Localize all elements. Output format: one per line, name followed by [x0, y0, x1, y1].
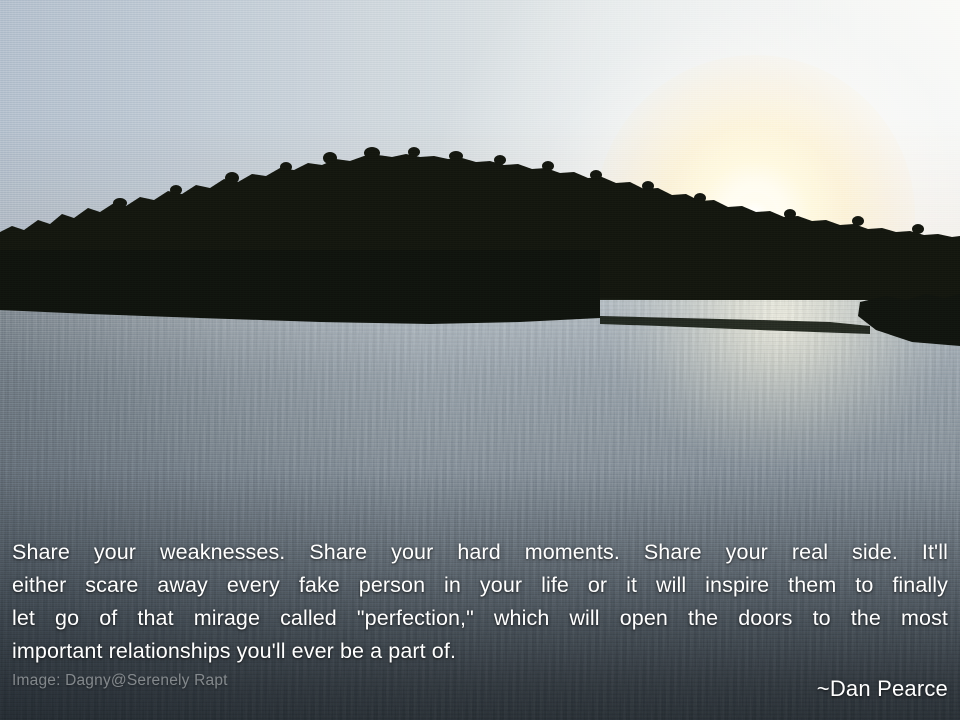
quote-line-3: let go of that mirage called "perfection…: [12, 602, 948, 635]
quote-author: ~Dan Pearce: [817, 676, 948, 702]
quote-line-4: important relationships you'll ever be a…: [12, 635, 948, 668]
quote-text-block: Share your weaknesses. Share your hard m…: [0, 536, 960, 668]
quote-image-canvas: Share your weaknesses. Share your hard m…: [0, 0, 960, 720]
left-shoreline: [0, 250, 600, 324]
image-credit: Image: Dagny@Serenely Rapt: [12, 672, 228, 690]
quote-line-2: either scare away every fake person in y…: [12, 569, 948, 602]
quote-line-1: Share your weaknesses. Share your hard m…: [12, 536, 948, 569]
mid-shore-spit: [600, 316, 870, 334]
right-headland: [858, 294, 960, 346]
shoreline-layer: [0, 250, 960, 390]
